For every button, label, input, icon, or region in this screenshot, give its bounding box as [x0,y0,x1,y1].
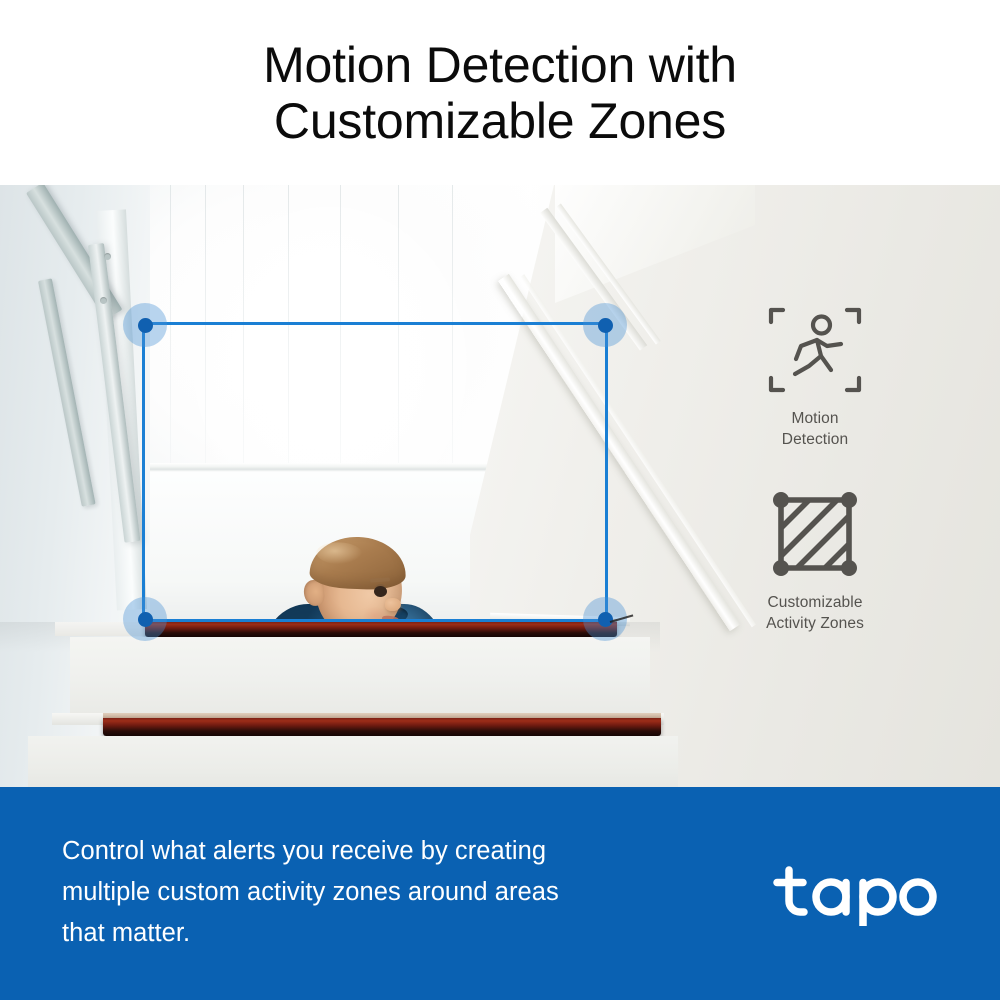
rail-screw [100,297,107,304]
header: Motion Detection with Customizable Zones [0,0,1000,185]
feature-label-line-1: Motion [700,408,930,429]
feature-list: Motion Detection [700,300,930,668]
tapo-logo [772,862,942,926]
banner-text-line-2: multiple custom activity zones around ar… [62,872,702,913]
poster-root: Motion Detection with Customizable Zones [0,0,1000,1000]
stair-riser [70,637,650,715]
motion-detection-icon [765,300,865,400]
page-title-line-1: Motion Detection with [263,37,737,93]
stair-nosing [103,718,661,736]
banner-text-line-3: that matter. [62,913,702,954]
zone-handle-top-left[interactable] [123,303,167,347]
customizable-activity-zones-icon [765,484,865,584]
rail-screw [104,253,111,260]
feature-label-line-2: Detection [700,429,930,450]
feature-motion-detection: Motion Detection [700,300,930,450]
stair-nosing [145,622,617,637]
banister-rail [38,278,96,506]
feature-label-line-2: Activity Zones [700,613,930,634]
banner-description: Control what alerts you receive by creat… [62,831,702,954]
bottom-banner: Control what alerts you receive by creat… [0,787,1000,1000]
feature-label-line-1: Customizable [700,592,930,613]
feature-label: Motion Detection [700,408,930,450]
page-title-line-2: Customizable Zones [263,93,737,149]
stair-riser [28,736,678,787]
activity-zone-rectangle[interactable] [142,322,608,622]
feature-customizable-activity-zones: Customizable Activity Zones [700,484,930,634]
hero-photo: Motion Detection [0,185,1000,787]
banner-text-line-1: Control what alerts you receive by creat… [62,831,702,872]
zone-handle-bottom-left[interactable] [123,597,167,641]
page-title: Motion Detection with Customizable Zones [263,37,737,149]
feature-label: Customizable Activity Zones [700,592,930,634]
zone-handle-top-right[interactable] [583,303,627,347]
